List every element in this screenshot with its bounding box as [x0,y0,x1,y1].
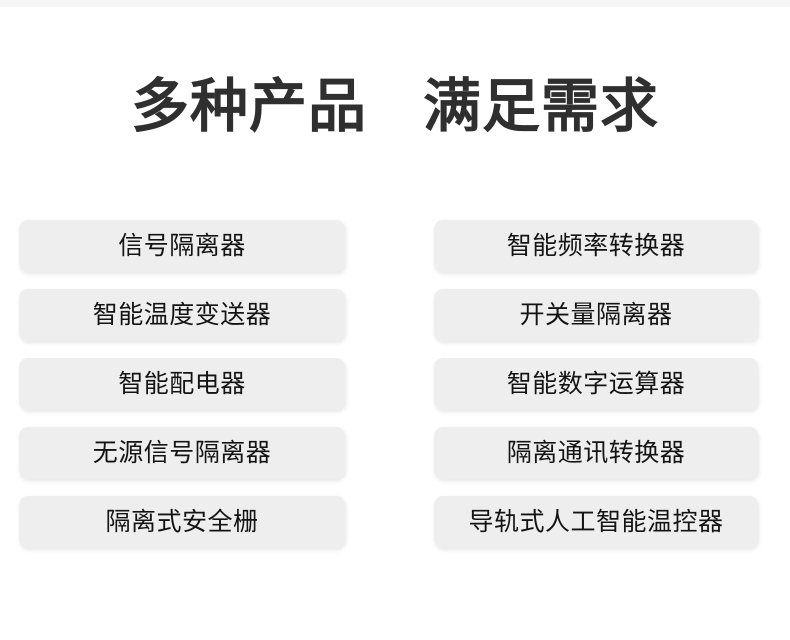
product-pill-passive-signal-isolator[interactable]: 无源信号隔离器 [19,427,345,479]
page-title-segment-1: 多种产品 [131,72,367,140]
product-pill-signal-isolator[interactable]: 信号隔离器 [19,220,345,272]
product-pill-label: 智能频率转换器 [507,231,686,261]
product-pill-label: 信号隔离器 [118,231,246,261]
product-pill-label: 智能温度变送器 [93,300,272,330]
product-pill-smart-power-distributor[interactable]: 智能配电器 [19,358,345,410]
product-pill-din-rail-ai-temperature-controller[interactable]: 导轨式人工智能温控器 [434,496,758,548]
page-title-segment-2: 满足需求 [423,72,659,140]
product-pill-isolated-communication-converter[interactable]: 隔离通讯转换器 [434,427,758,479]
product-column-left: 信号隔离器 智能温度变送器 智能配电器 无源信号隔离器 隔离式安全栅 [19,220,345,548]
product-grid: 信号隔离器 智能温度变送器 智能配电器 无源信号隔离器 隔离式安全栅 智能频率转… [19,220,758,548]
product-pill-isolated-safety-barrier[interactable]: 隔离式安全栅 [19,496,345,548]
product-pill-smart-digital-calculator[interactable]: 智能数字运算器 [434,358,758,410]
product-pill-label: 智能配电器 [118,369,246,399]
product-pill-label: 无源信号隔离器 [93,438,272,468]
product-pill-label: 智能数字运算器 [507,369,686,399]
page-title: 多种产品满足需求 [0,70,790,142]
top-edge-strip [0,0,790,7]
product-pill-smart-frequency-converter[interactable]: 智能频率转换器 [434,220,758,272]
product-column-right: 智能频率转换器 开关量隔离器 智能数字运算器 隔离通讯转换器 导轨式人工智能温控… [434,220,758,548]
product-pill-label: 开关量隔离器 [519,300,672,330]
product-pill-smart-temperature-transmitter[interactable]: 智能温度变送器 [19,289,345,341]
product-pill-label: 隔离式安全栅 [105,507,258,537]
product-pill-label: 隔离通讯转换器 [507,438,686,468]
product-categories-banner: 多种产品满足需求 信号隔离器 智能温度变送器 智能配电器 无源信号隔离器 隔离式… [0,0,790,640]
product-pill-switch-isolator[interactable]: 开关量隔离器 [434,289,758,341]
product-pill-label: 导轨式人工智能温控器 [468,507,723,537]
